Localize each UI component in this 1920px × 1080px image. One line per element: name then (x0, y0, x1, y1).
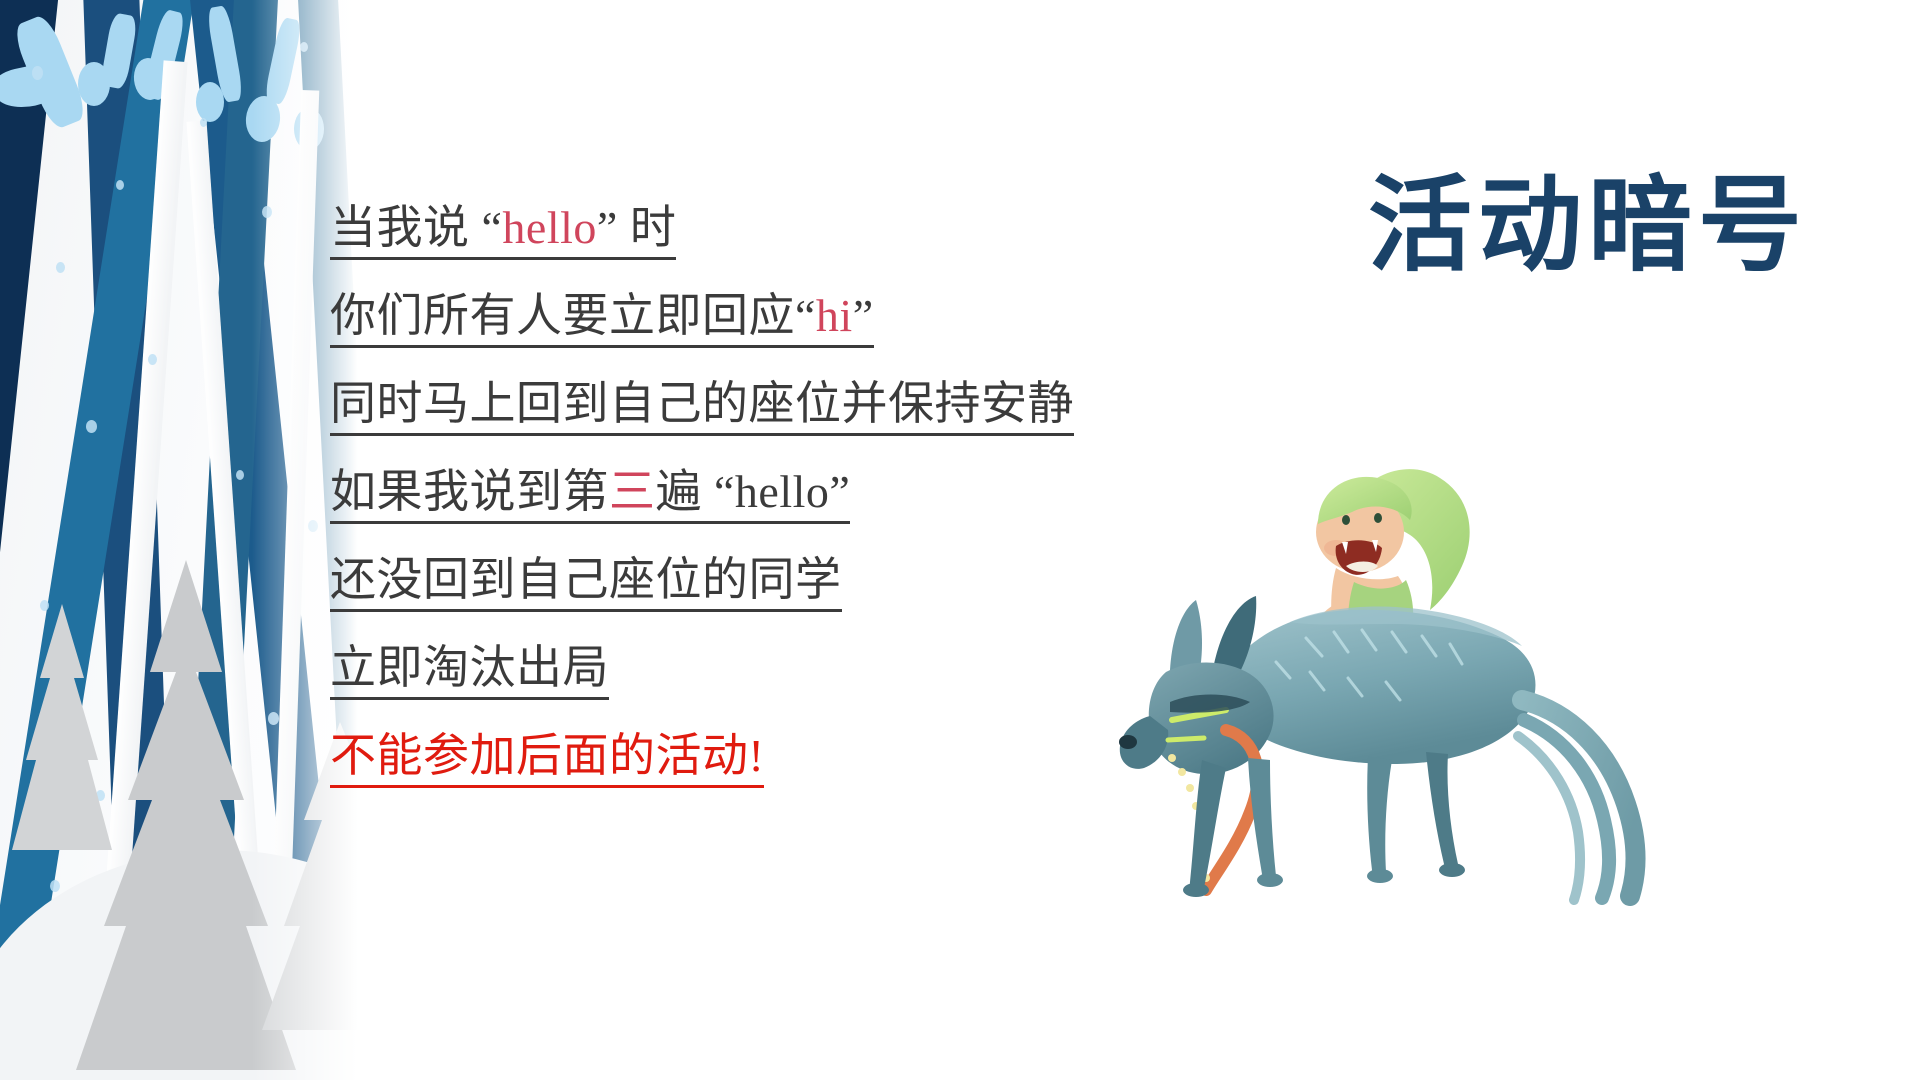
instruction-line-7-alert: 不能参加后面的活动! (330, 712, 1110, 800)
wolf-paw (1367, 869, 1393, 883)
instruction-line-2: 你们所有人要立即回应“hi” (330, 272, 1110, 360)
line-2-highlight-hi: hi (816, 290, 853, 341)
snow-dot (56, 262, 65, 273)
line-5-text: 还没回到自己座位的同学 (330, 554, 842, 605)
instruction-line-5: 还没回到自己座位的同学 (330, 536, 1110, 624)
wolf-eye-slit (1168, 738, 1204, 740)
line-4-highlight-three: 三 (609, 466, 656, 517)
wolf-creature (1119, 596, 1636, 900)
instruction-line-3: 同时马上回到自己的座位并保持安静 (330, 360, 1110, 448)
line-1-part-b: ” 时 (597, 202, 676, 253)
line-1-highlight-hello: hello (502, 202, 596, 253)
instruction-line-4: 如果我说到第三遍 “hello” (330, 448, 1110, 536)
wolf-hind-leg (1426, 752, 1458, 874)
page-title: 活动暗号 (1368, 172, 1808, 281)
snow-dot (200, 118, 207, 127)
troll-riding-wolf-illustration (1110, 420, 1670, 920)
line-1-part-a: 当我说 “ (330, 202, 502, 253)
line-7-text: 不能参加后面的活动! (330, 730, 764, 781)
instruction-line-1: 当我说 “hello” 时 (330, 184, 1110, 272)
instruction-text-block: 当我说 “hello” 时 你们所有人要立即回应“hi” 同时马上回到自己的座位… (330, 184, 1110, 800)
wolf-paw (1183, 883, 1209, 897)
line-2-part-a: 你们所有人要立即回应“ (330, 290, 816, 341)
wolf-paw (1439, 863, 1465, 877)
wolf-hind-leg (1367, 756, 1392, 881)
winter-forest-decoration (0, 0, 372, 1080)
wolf-paw (1257, 873, 1283, 887)
line-6-text: 立即淘汰出局 (330, 642, 609, 693)
pine-tree (12, 604, 112, 850)
line-2-part-b: ” (853, 290, 874, 341)
troll-eye-left (1342, 515, 1350, 525)
wolf-nose (1119, 735, 1137, 749)
troll-eye-right (1374, 513, 1382, 523)
line-4-part-b: 遍 “hello” (656, 466, 851, 517)
line-3-text: 同时马上回到自己的座位并保持安静 (330, 378, 1074, 429)
slide-canvas: 当我说 “hello” 时 你们所有人要立即回应“hi” 同时马上回到自己的座位… (0, 0, 1920, 1080)
instruction-line-6: 立即淘汰出局 (330, 624, 1110, 712)
line-4-part-a: 如果我说到第 (330, 466, 609, 517)
snow-dot (32, 66, 43, 80)
snow-dot (116, 180, 124, 190)
